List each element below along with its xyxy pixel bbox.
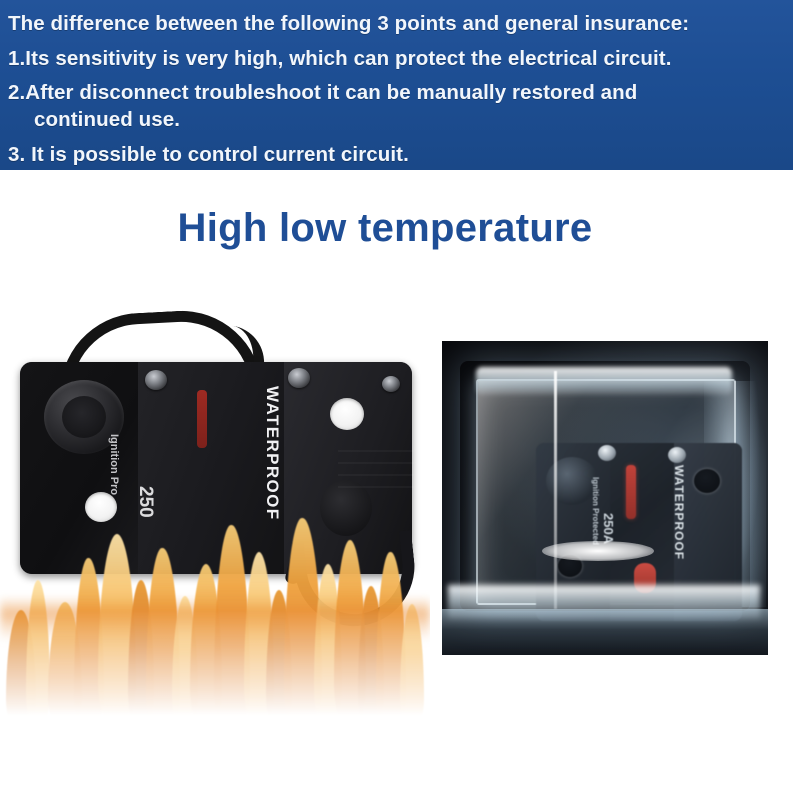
flame-fade-overlay <box>0 610 430 730</box>
trip-indicator-strip <box>197 390 207 448</box>
banner-point-1: 1.Its sensitivity is very high, which ca… <box>8 43 783 74</box>
label-amperage: 250A <box>601 513 616 544</box>
label-ignition-protected: Ignition Protected <box>591 477 600 545</box>
ice-floor-reflection <box>442 609 768 655</box>
flame-cluster <box>0 450 430 730</box>
ice-test-photo: WATERPROOF Ignition Protected 250A <box>442 341 768 655</box>
section-title: High low temperature <box>0 206 800 251</box>
ice-highlight-streak <box>542 541 654 561</box>
frozen-trip-indicator-strip <box>626 465 636 519</box>
mounting-hole <box>330 398 364 430</box>
product-detail-page: The difference between the following 3 p… <box>0 0 800 800</box>
screw-icon <box>382 376 400 392</box>
screw-icon <box>145 370 167 390</box>
banner-bottom-edge <box>0 170 793 173</box>
screw-icon <box>288 368 310 388</box>
terminal-knob-inner <box>62 396 106 438</box>
info-banner: The difference between the following 3 p… <box>0 0 793 170</box>
ice-block: WATERPROOF Ignition Protected 250A <box>476 379 736 605</box>
screw-icon <box>598 445 616 461</box>
banner-intro-text: The difference between the following 3 p… <box>8 8 783 39</box>
banner-point-2-line-2: continued use. <box>8 107 783 133</box>
ice-front-edge <box>554 371 557 609</box>
frozen-mounting-hole <box>694 469 720 493</box>
screw-icon <box>668 447 686 463</box>
banner-point-2-line-1: 2.After disconnect troubleshoot it can b… <box>8 79 783 107</box>
fire-test-photo: Ignition Pro 250 WATERPROOF <box>0 300 430 730</box>
ice-top-highlight <box>476 367 732 395</box>
banner-point-3: 3. It is possible to control current cir… <box>8 139 783 170</box>
label-waterproof: WATERPROOF <box>672 465 686 560</box>
